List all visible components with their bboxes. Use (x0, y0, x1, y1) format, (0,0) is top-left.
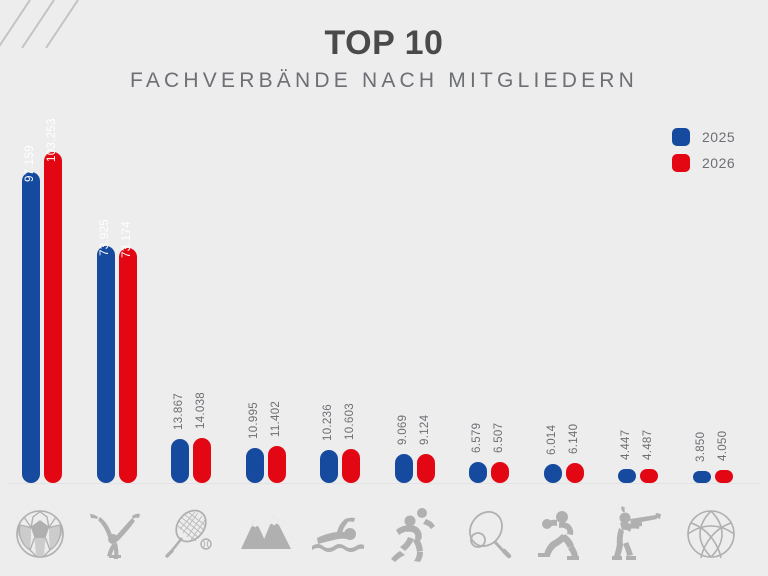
bar-value-label: 73.174 (121, 221, 133, 258)
bar-series-2025[interactable] (97, 246, 115, 483)
bar-series-2025[interactable] (395, 454, 413, 483)
bar-value-label: 6.579 (471, 423, 483, 453)
bar-value-label: 9.124 (419, 415, 431, 445)
athletics-icon (532, 498, 592, 570)
bar-series-2026[interactable] (417, 454, 435, 483)
bar-value-label: 6.140 (568, 424, 580, 454)
tennis-racket-icon (159, 498, 219, 570)
bar-series-2025[interactable] (246, 448, 264, 483)
bar-value-label: 4.050 (717, 431, 729, 461)
axis-baseline (8, 483, 760, 484)
bar-series-2025[interactable] (544, 464, 562, 483)
gymnastics-icon (85, 498, 145, 570)
bar-value-label: 4.447 (620, 430, 632, 460)
volleyball-icon (681, 498, 741, 570)
bar-value-label: 13.867 (173, 393, 185, 430)
mountains-icon (234, 498, 294, 570)
bar-value-label: 103.253 (46, 118, 58, 162)
bar-value-label: 3.850 (695, 432, 707, 462)
handball-icon (383, 498, 443, 570)
bar-value-label: 6.507 (493, 423, 505, 453)
soccer-ball-icon (10, 498, 70, 570)
bar-series-2026[interactable] (491, 462, 509, 483)
bar-value-label: 10.236 (322, 404, 334, 441)
bar-series-2026[interactable] (640, 469, 658, 483)
bar-series-2025[interactable] (469, 462, 487, 483)
bar-series-2026[interactable] (342, 449, 360, 483)
bar-value-label: 6.014 (546, 425, 558, 455)
bar-series-2025[interactable] (171, 439, 189, 483)
chart-canvas: TOP 10 FACHVERBÄNDE NACH MITGLIEDERN 202… (0, 0, 768, 576)
bar-series-2025[interactable] (22, 172, 40, 483)
bar-series-2026[interactable] (268, 446, 286, 483)
bar-series-2026[interactable] (715, 470, 733, 483)
swimming-icon (308, 498, 368, 570)
bar-series-2025[interactable] (693, 471, 711, 483)
table-tennis-icon (457, 498, 517, 570)
bar-value-label: 4.487 (642, 430, 654, 460)
category-icons-row (0, 498, 768, 570)
bar-value-label: 97.159 (24, 145, 36, 182)
bar-value-label: 10.995 (248, 402, 260, 439)
bar-value-label: 10.603 (344, 403, 356, 440)
bar-series-2026[interactable] (193, 438, 211, 483)
bar-value-label: 9.069 (397, 415, 409, 445)
bar-value-label: 73.925 (99, 219, 111, 256)
plot-area: 97.159103.25373.92573.17413.86714.03810.… (0, 0, 768, 576)
bar-series-2025[interactable] (618, 469, 636, 483)
bar-series-2026[interactable] (566, 463, 584, 483)
bar-value-label: 11.402 (270, 401, 282, 437)
bar-series-2026[interactable] (119, 248, 137, 483)
bar-series-2025[interactable] (320, 450, 338, 483)
bar-value-label: 14.038 (195, 392, 207, 429)
shooting-icon (606, 498, 666, 570)
bar-series-2026[interactable] (44, 152, 62, 483)
